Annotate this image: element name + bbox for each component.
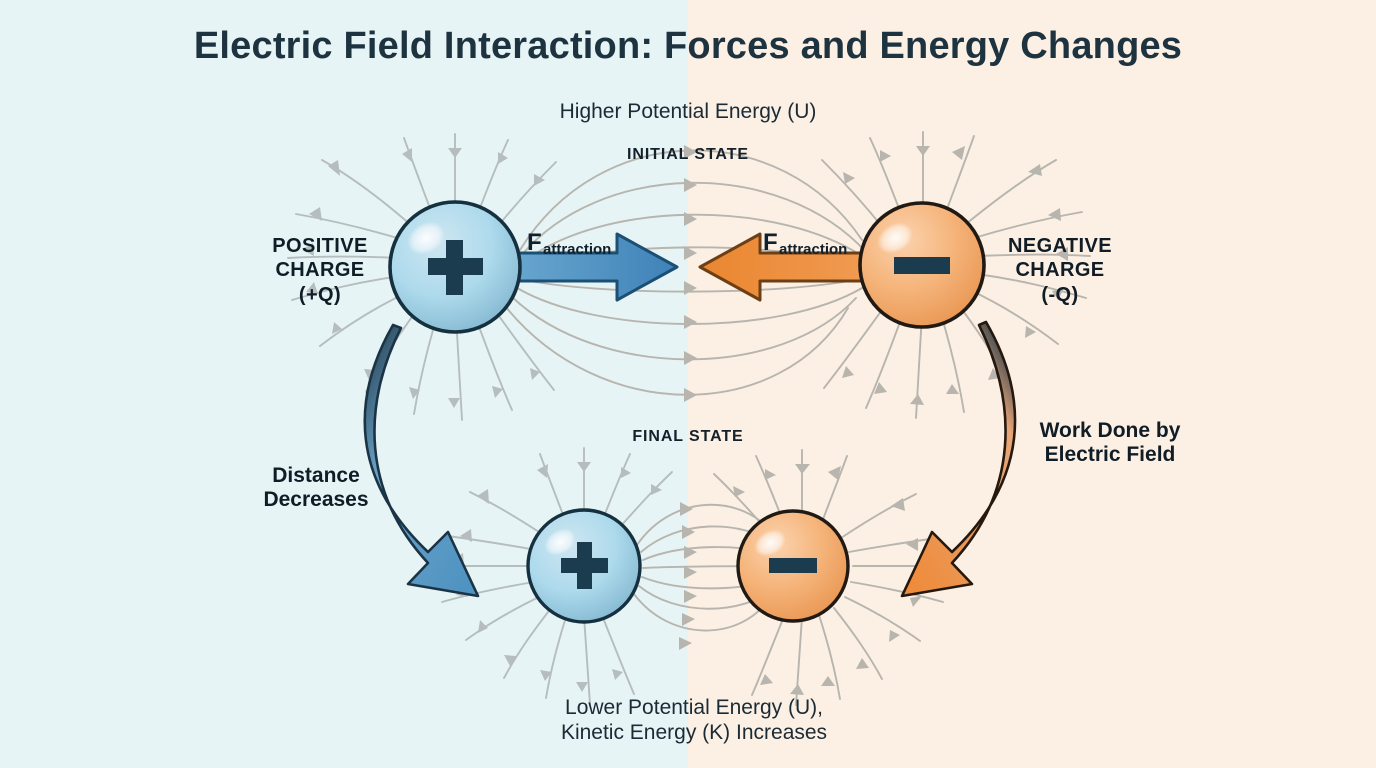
work-line1: Work Done by (1040, 419, 1181, 442)
negative-charge-line2: CHARGE (1015, 259, 1104, 281)
charge-negative-lower[interactable] (738, 511, 848, 621)
positive-charge-line1: POSITIVE (272, 235, 367, 257)
positive-charge-line2: CHARGE (275, 259, 364, 281)
label-initial-state: INITIAL STATE (627, 146, 749, 163)
negative-charge-line1: NEGATIVE (1008, 235, 1112, 257)
charge-negative-upper[interactable] (860, 203, 984, 327)
force-subscript-right: attraction (779, 241, 847, 258)
distance-line1: Distance (272, 464, 360, 487)
charge-positive-lower[interactable] (528, 510, 640, 622)
lower-energy-line1: Lower Potential Energy (U), (565, 696, 823, 719)
force-symbol-right: F (763, 229, 778, 256)
positive-charge-line3: (+Q) (299, 284, 341, 306)
lower-energy-line2: Kinetic Energy (K) Increases (561, 721, 827, 744)
minus-sign-icon (769, 558, 817, 573)
work-line2: Electric Field (1045, 443, 1176, 466)
negative-charge-line3: (-Q) (1041, 284, 1078, 306)
label-higher-potential-energy: Higher Potential Energy (U) (560, 100, 817, 123)
label-work-done: Work Done by Electric Field (1040, 419, 1181, 466)
force-subscript-left: attraction (543, 241, 611, 258)
charge-positive-upper[interactable] (390, 202, 520, 332)
force-symbol-left: F (527, 229, 542, 256)
label-final-state: FINAL STATE (632, 428, 743, 445)
diagram-canvas: Electric Field Interaction: Forces and E… (0, 0, 1376, 768)
page-title: Electric Field Interaction: Forces and E… (194, 25, 1182, 67)
minus-sign-icon (894, 257, 950, 274)
distance-line2: Decreases (263, 488, 368, 511)
label-distance-decreases: Distance Decreases (263, 464, 368, 511)
